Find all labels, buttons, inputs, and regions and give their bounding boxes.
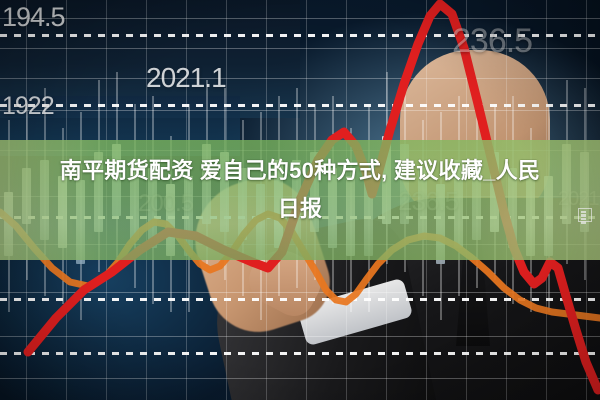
headline-line-1: 南平期货配资 爱自己的50种方式, 建议收藏_人民 [0,152,600,190]
price-label: 2021.1 [146,62,226,94]
price-label: 194.5 [2,2,65,33]
corner-watermark-icon [578,208,592,222]
headline-line-2: 日报 [0,190,600,228]
price-label: 1922 [2,92,54,121]
headline-text: 南平期货配资 爱自己的50种方式, 建议收藏_人民 日报 [0,152,600,228]
price-label: 236.5 [452,22,532,61]
thumbnail-image: 194.519222021.1236.5200.5236.52021 南平期货配… [0,0,600,400]
